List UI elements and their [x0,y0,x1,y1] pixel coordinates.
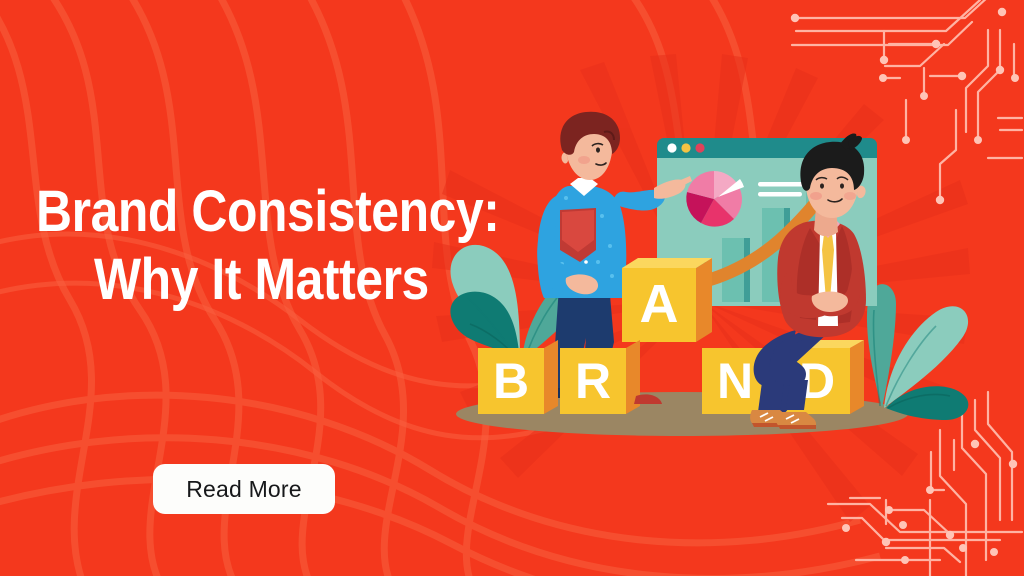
headline-line-1: Brand Consistency: [36,178,406,246]
svg-text:R: R [575,353,611,409]
page-title: Brand Consistency: Why It Matters [36,178,466,314]
window-dot-red [695,143,704,152]
hero-banner: A B R N D [0,0,1024,576]
window-dot-yellow [681,143,690,152]
svg-text:A: A [640,274,679,334]
block-B: B [478,340,558,414]
headline-line-2: Why It Matters [94,246,414,314]
block-R: R [560,340,640,414]
svg-text:B: B [493,353,529,409]
block-A: A [622,258,712,342]
read-more-button[interactable]: Read More [153,464,335,514]
window-dot-white [667,143,676,152]
svg-text:N: N [717,353,753,409]
plant-right [867,284,968,420]
